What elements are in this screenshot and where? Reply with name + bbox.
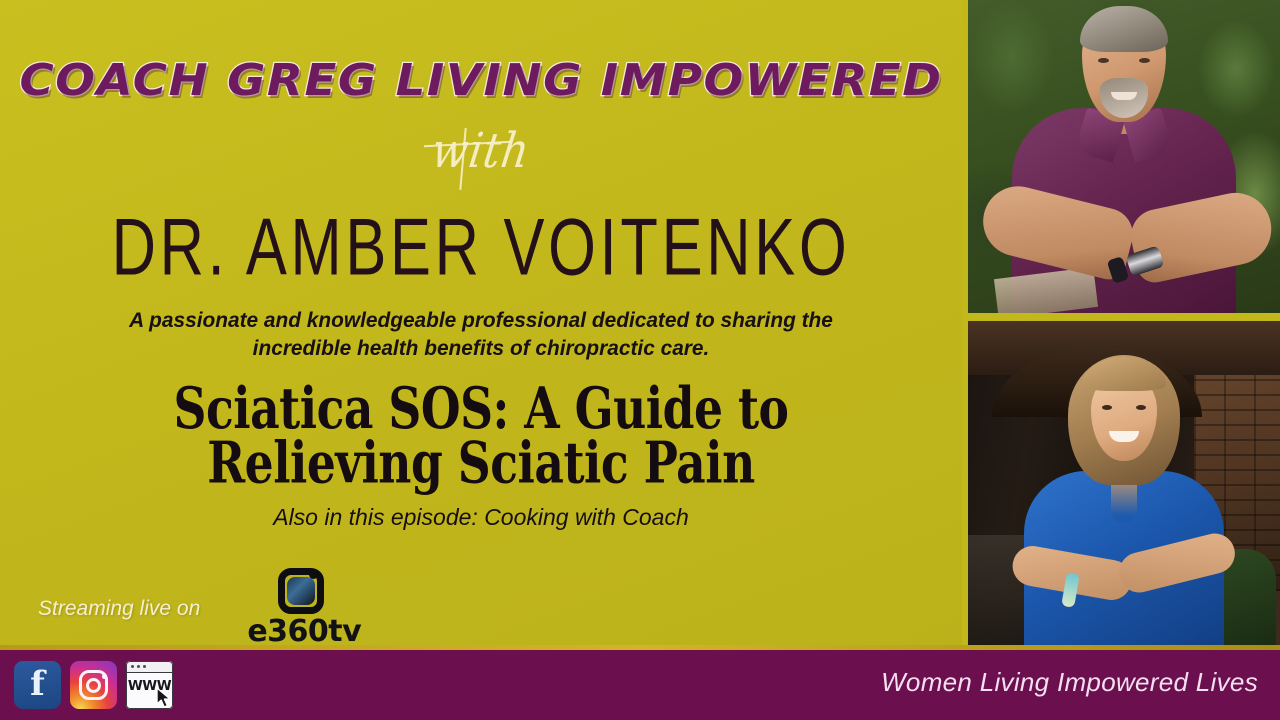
episode-subtitle: Also in this episode: Cooking with Coach [0, 504, 962, 531]
facebook-glyph: f [30, 667, 45, 701]
episode-title: Sciatica SOS: A Guide to Relieving Sciat… [62, 382, 900, 491]
photo-column [962, 0, 1280, 645]
browser-dot-2 [137, 665, 140, 668]
social-icon-row: f WWW [14, 661, 173, 709]
host-eye-right [1139, 58, 1150, 63]
streaming-row: Streaming live on e360tv [38, 568, 362, 645]
e360tv-logo: e360tv [246, 568, 362, 645]
guest-photo [968, 321, 1280, 645]
show-title: COACH GREG LIVING IMPOWERED [0, 55, 962, 106]
host-smile [1111, 92, 1137, 100]
e360tv-lens-icon [287, 577, 315, 605]
streaming-label: Streaming live on [38, 597, 200, 621]
with-connector-label: with [0, 122, 962, 178]
facebook-icon[interactable]: f [14, 661, 61, 709]
browser-titlebar-icon [126, 661, 173, 673]
host-photo [968, 0, 1280, 313]
guest-eye-right [1136, 405, 1146, 410]
instagram-dot-icon [102, 674, 107, 679]
guest-name: DR. AMBER VOITENKO [34, 200, 929, 293]
guest-eye-left [1102, 405, 1112, 410]
guest-description: A passionate and knowledgeable professio… [88, 306, 874, 363]
footer-tagline: Women Living Impowered Lives [881, 667, 1258, 698]
instagram-icon[interactable] [70, 661, 117, 709]
broadcast-title-card: COACH GREG LIVING IMPOWERED with DR. AMB… [0, 0, 1280, 720]
host-eye-left [1098, 58, 1109, 63]
content-panel: COACH GREG LIVING IMPOWERED with DR. AMB… [0, 0, 962, 645]
footer-bar: f WWW Women Living Impowered [0, 650, 1280, 720]
cursor-arrow-icon [156, 687, 173, 709]
website-icon[interactable]: WWW [126, 661, 173, 709]
e360tv-wordmark: e360tv [246, 614, 362, 645]
instagram-lens-icon [86, 678, 101, 693]
browser-dot-1 [131, 665, 134, 668]
browser-dot-3 [143, 665, 146, 668]
